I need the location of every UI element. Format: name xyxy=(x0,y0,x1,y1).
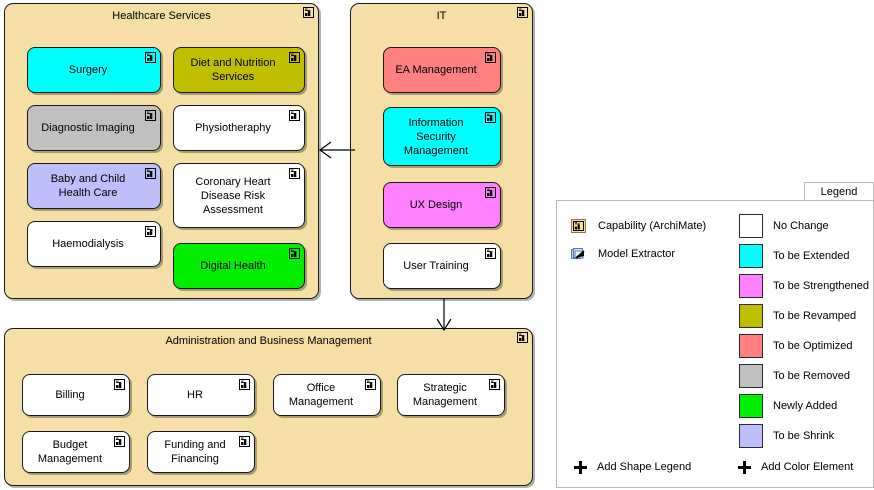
legend-shape-label: Model Extractor xyxy=(598,248,675,260)
capability-ux-design[interactable]: UX Design xyxy=(383,182,501,228)
legend-shape-item-model-extractor[interactable]: Model Extractor xyxy=(571,245,675,263)
capability-surgery[interactable]: Surgery xyxy=(27,47,161,93)
capability-ea-management[interactable]: EA Management xyxy=(383,47,501,93)
add-shape-legend-button[interactable]: Add Shape Legend xyxy=(574,459,691,475)
legend-tab-label: Legend xyxy=(821,186,858,198)
capability-icon xyxy=(145,52,156,63)
capability-label: Surgery xyxy=(69,63,108,77)
capability-icon xyxy=(289,168,300,179)
capability-icon xyxy=(289,52,300,63)
capability-icon xyxy=(517,7,528,18)
group-it[interactable]: IT EA Management Information Security Ma… xyxy=(350,3,533,299)
capability-icon xyxy=(485,248,496,259)
capability-information-security-management[interactable]: Information Security Management xyxy=(383,107,501,166)
legend-color-item-to-be-optimized[interactable]: To be Optimized xyxy=(739,333,852,359)
capability-icon xyxy=(239,379,250,390)
capability-label: UX Design xyxy=(410,198,463,212)
legend-color-item-to-be-removed[interactable]: To be Removed xyxy=(739,363,850,389)
capability-label: Diagnostic Imaging xyxy=(41,121,135,135)
capability-label: HR xyxy=(187,388,203,402)
capability-haemodialysis[interactable]: Haemodialysis xyxy=(27,221,161,267)
capability-funding-and-financing[interactable]: Funding and Financing xyxy=(147,431,255,473)
legend-shape-item-capability[interactable]: Capability (ArchiMate) xyxy=(571,217,706,235)
legend-shape-label: Capability (ArchiMate) xyxy=(598,220,706,232)
legend-panel: Capability (ArchiMate) Model Extractor N… xyxy=(556,200,874,488)
group-healthcare-services[interactable]: Healthcare Services Surgery Diet and Nut… xyxy=(4,3,319,299)
color-swatch xyxy=(739,364,763,388)
add-shape-legend-label: Add Shape Legend xyxy=(597,461,691,473)
group-administration-and-business-management[interactable]: Administration and Business Management B… xyxy=(4,328,533,486)
capability-coronary-heart-disease-risk-assessment[interactable]: Coronary Heart Disease Risk Assessment xyxy=(173,163,305,228)
add-color-element-button[interactable]: Add Color Element xyxy=(738,459,853,475)
capability-digital-health[interactable]: Digital Health xyxy=(173,243,305,289)
capability-icon xyxy=(517,332,528,343)
group-title-administration: Administration and Business Management xyxy=(5,334,532,348)
legend-color-label: No Change xyxy=(773,220,829,232)
group-title-it: IT xyxy=(351,9,532,23)
capability-icon xyxy=(239,436,250,447)
plus-icon xyxy=(574,461,587,474)
capability-label: Office Management xyxy=(280,381,362,409)
capability-label: Budget Management xyxy=(29,438,111,466)
capability-label: Information Security Management xyxy=(390,116,482,158)
capability-label: Diet and Nutrition Services xyxy=(180,56,286,84)
connector-it-to-healthcare xyxy=(318,138,356,162)
legend-color-label: To be Removed xyxy=(773,370,850,382)
legend-tab[interactable]: Legend xyxy=(804,182,874,201)
capability-icon xyxy=(485,187,496,198)
capability-label: Funding and Financing xyxy=(154,438,236,466)
color-swatch xyxy=(739,424,763,448)
color-swatch xyxy=(739,334,763,358)
color-swatch xyxy=(739,394,763,418)
capability-baby-and-child-health-care[interactable]: Baby and Child Health Care xyxy=(27,163,161,209)
capability-icon xyxy=(145,226,156,237)
capability-icon xyxy=(114,379,125,390)
capability-icon xyxy=(145,168,156,179)
color-swatch xyxy=(739,274,763,298)
capability-billing[interactable]: Billing xyxy=(22,374,130,416)
group-title-healthcare-services: Healthcare Services xyxy=(5,9,318,23)
color-swatch xyxy=(739,214,763,238)
capability-icon xyxy=(365,379,376,390)
capability-icon xyxy=(485,112,496,123)
capability-label: Baby and Child Health Care xyxy=(34,172,142,200)
capability-label: Coronary Heart Disease Risk Assessment xyxy=(180,175,286,217)
legend-color-label: To be Extended xyxy=(773,250,849,262)
capability-icon xyxy=(303,7,314,18)
color-swatch xyxy=(739,304,763,328)
legend-color-item-to-be-shrink[interactable]: To be Shrink xyxy=(739,423,834,449)
capability-budget-management[interactable]: Budget Management xyxy=(22,431,130,473)
capability-label: Billing xyxy=(55,388,84,402)
color-swatch xyxy=(739,244,763,268)
capability-icon xyxy=(114,436,125,447)
legend-color-label: Newly Added xyxy=(773,400,837,412)
capability-user-training[interactable]: User Training xyxy=(383,243,501,289)
legend-color-item-newly-added[interactable]: Newly Added xyxy=(739,393,837,419)
legend-color-label: To be Optimized xyxy=(773,340,852,352)
capability-icon xyxy=(571,219,586,233)
model-extractor-icon xyxy=(571,247,586,261)
capability-label: Haemodialysis xyxy=(52,237,124,251)
capability-label: Strategic Management xyxy=(404,381,486,409)
legend-color-item-to-be-revamped[interactable]: To be Revamped xyxy=(739,303,856,329)
capability-icon xyxy=(145,110,156,121)
connector-it-to-administration xyxy=(432,298,456,332)
legend-color-item-to-be-extended[interactable]: To be Extended xyxy=(739,243,849,269)
capability-label: EA Management xyxy=(395,63,476,77)
capability-diagnostic-imaging[interactable]: Diagnostic Imaging xyxy=(27,105,161,151)
capability-label: Physiotheraphy xyxy=(195,121,271,135)
legend-color-label: To be Revamped xyxy=(773,310,856,322)
legend-color-label: To be Strengthened xyxy=(773,280,869,292)
capability-hr[interactable]: HR xyxy=(147,374,255,416)
legend-color-label: To be Shrink xyxy=(773,430,834,442)
capability-icon xyxy=(289,248,300,259)
capability-office-management[interactable]: Office Management xyxy=(273,374,381,416)
capability-icon xyxy=(289,110,300,121)
add-color-element-label: Add Color Element xyxy=(761,461,853,473)
capability-icon xyxy=(489,379,500,390)
legend-color-item-to-be-strengthened[interactable]: To be Strengthened xyxy=(739,273,869,299)
legend-color-item-no-change[interactable]: No Change xyxy=(739,213,829,239)
capability-icon xyxy=(485,52,496,63)
capability-strategic-management[interactable]: Strategic Management xyxy=(397,374,505,416)
plus-icon xyxy=(738,461,751,474)
capability-label: Digital Health xyxy=(200,259,265,273)
capability-diet-and-nutrition-services[interactable]: Diet and Nutrition Services xyxy=(173,47,305,93)
capability-label: User Training xyxy=(403,259,468,273)
capability-physiotheraphy[interactable]: Physiotheraphy xyxy=(173,105,305,151)
